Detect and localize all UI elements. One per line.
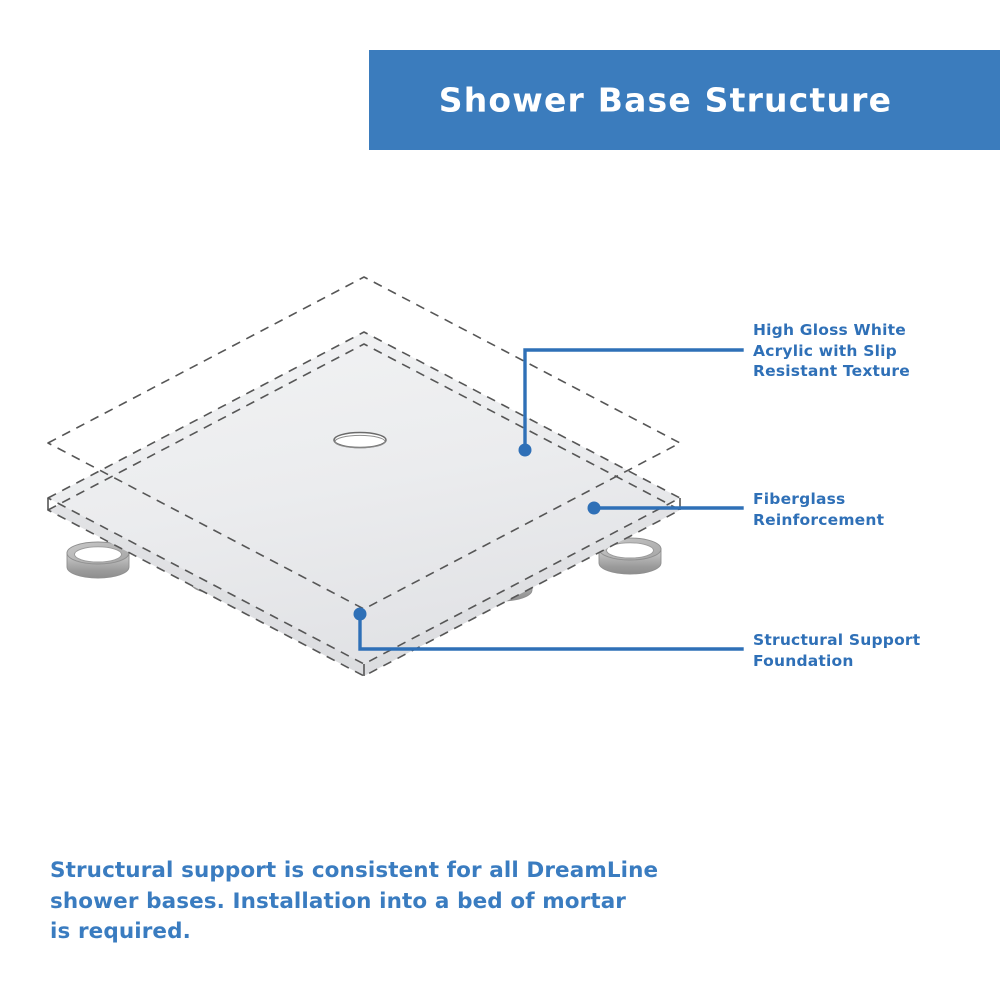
callout-line: Fiberglass — [753, 489, 993, 510]
acrylic-layer — [48, 277, 680, 609]
footer-note-line: is required. — [50, 917, 710, 948]
footer-note-line: Structural support is consistent for all… — [50, 856, 710, 887]
callout-label-structural-support-foundation: Structural Support Foundation — [753, 630, 993, 671]
callout-line: Acrylic with Slip — [753, 341, 993, 362]
page-title: Shower Base Structure — [369, 81, 962, 120]
support-ring — [470, 565, 532, 601]
fiberglass-layer — [48, 332, 680, 676]
support-ring — [191, 558, 253, 594]
support-ring — [326, 554, 388, 590]
support-ring — [67, 542, 129, 578]
callout-label-high-gloss-white-acrylic: High Gloss White Acrylic with Slip Resis… — [753, 320, 993, 382]
callout-line: Structural Support — [753, 630, 993, 651]
support-ring-group — [67, 535, 661, 627]
leader-line-acrylic — [519, 350, 743, 457]
leader-line-fiberglass — [588, 502, 743, 515]
header-bar: Shower Base Structure — [369, 50, 1000, 150]
callout-line: Reinforcement — [753, 510, 993, 531]
callout-line: High Gloss White — [753, 320, 993, 341]
support-ring — [191, 537, 253, 573]
callout-line: Resistant Texture — [753, 361, 993, 382]
support-ring — [470, 535, 532, 571]
callout-line: Foundation — [753, 651, 993, 672]
footer-note: Structural support is consistent for all… — [50, 856, 710, 948]
support-ring — [599, 538, 661, 574]
drain-opening — [334, 433, 386, 448]
support-ring — [329, 591, 391, 627]
callout-label-fiberglass-reinforcement: Fiberglass Reinforcement — [753, 489, 993, 530]
leader-line-support — [354, 608, 743, 650]
page-root: Shower Base Structure High Gloss White A… — [0, 0, 1000, 1000]
footer-note-line: shower bases. Installation into a bed of… — [50, 887, 710, 918]
